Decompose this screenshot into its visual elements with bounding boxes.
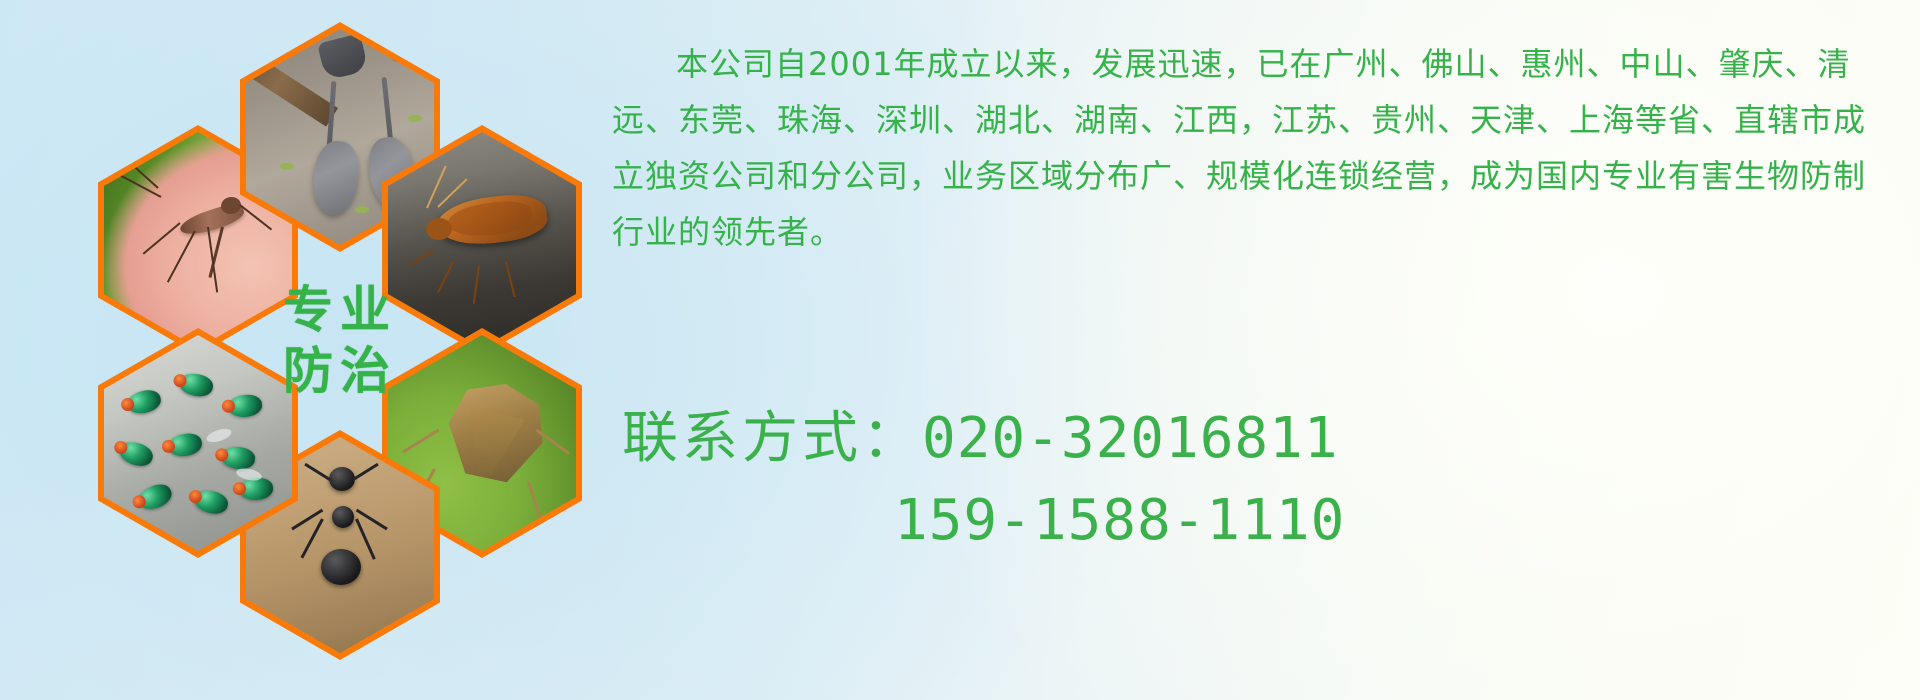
stinkbug-leg: [402, 429, 439, 454]
fly: [124, 387, 162, 417]
fly-wing: [235, 466, 263, 482]
ant-leg: [355, 518, 376, 559]
leaf-debris: [280, 163, 294, 170]
cockroach-leg: [410, 248, 434, 265]
ant-antenna: [352, 463, 379, 481]
ant-abdomen: [321, 549, 361, 585]
rat-tail: [382, 76, 394, 144]
fly: [116, 438, 155, 469]
fly: [219, 446, 255, 471]
ant-antenna: [304, 463, 331, 481]
cockroach-head: [426, 218, 452, 240]
cockroach-leg: [505, 261, 516, 296]
rat-body: [310, 139, 361, 217]
phone-mobile[interactable]: 159-1588-1110: [894, 488, 1345, 553]
mosquito-leg: [143, 222, 181, 254]
slogan-line-2: 防治: [283, 341, 397, 402]
cockroach-leg: [473, 266, 480, 304]
phone-landline[interactable]: 020-32016811: [922, 406, 1339, 471]
rat-trap-bucket: [383, 31, 423, 66]
contact-row-landline: 联系方式：020-32016811: [612, 398, 1880, 480]
contact-block: 联系方式：020-32016811 159-1588-1110: [612, 398, 1880, 562]
leaf-debris: [355, 206, 369, 213]
contact-row-mobile: 159-1588-1110: [612, 480, 1880, 562]
fly-wing: [204, 426, 232, 444]
fly: [135, 481, 175, 514]
fly: [166, 432, 203, 460]
leaf-debris: [408, 115, 422, 122]
mosquito-leg: [167, 231, 196, 283]
fly: [178, 371, 215, 399]
company-description: 本公司自2001年成立以来，发展迅速，已在广州、佛山、惠州、中山、肇庆、清远、东…: [612, 36, 1880, 260]
ant-thorax: [332, 506, 354, 528]
rat-trap-bucket: [317, 33, 369, 81]
promo-banner: 专业 防治 本公司自2001年成立以来，发展迅速，已在广州、佛山、惠州、中山、肇…: [0, 0, 1920, 700]
fly: [192, 487, 230, 517]
ant-leg: [301, 518, 324, 558]
ant-head: [329, 467, 355, 491]
copy-block: 本公司自2001年成立以来，发展迅速，已在广州、佛山、惠州、中山、肇庆、清远、东…: [612, 36, 1880, 260]
mosquito-leg: [207, 227, 218, 293]
stinkbug-leg: [527, 481, 544, 526]
honeycomb-collage: 专业 防治: [88, 10, 588, 570]
center-label-inner: 专业 防治: [246, 233, 434, 449]
slogan-line-1: 专业: [283, 280, 397, 341]
contact-label: 联系方式：: [622, 406, 922, 471]
